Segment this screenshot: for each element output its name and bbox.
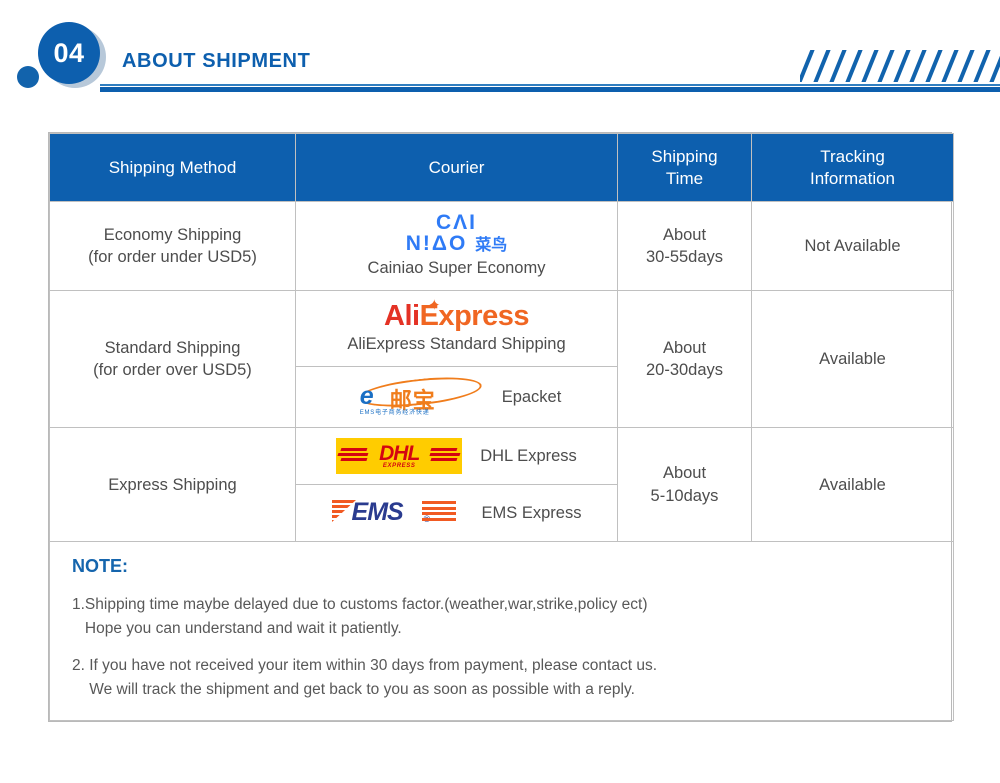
tracking-status: Available <box>819 476 886 494</box>
cainiao-logo-line1: CΛI <box>406 212 507 233</box>
shipping-time-cell-express: About 5-10days <box>618 428 752 542</box>
courier-cell-dhl: DHL EXPRESS DHL Express <box>296 428 618 485</box>
note-row: NOTE: 1.Shipping time maybe delayed due … <box>50 542 954 721</box>
shipping-time-line2: 5-10days <box>618 485 751 507</box>
decorative-dot <box>17 66 39 88</box>
page-title: ABOUT SHIPMENT <box>122 50 310 73</box>
method-cell-economy: Economy Shipping (for order under USD5) <box>50 202 296 291</box>
epacket-logo: e 邮宝 EMS电子商务经济快递 <box>352 377 484 417</box>
tracking-status: Available <box>819 350 886 368</box>
column-header-label: Shipping <box>651 147 717 166</box>
column-header-shipping-method: Shipping Method <box>50 134 296 202</box>
column-header-label-line2: Time <box>618 168 751 189</box>
courier-caption: Cainiao Super Economy <box>368 259 546 278</box>
cainiao-logo-line2: N!ΔO <box>406 232 468 255</box>
column-header-label: Shipping Method <box>109 158 237 177</box>
ems-logo-text: EMS <box>352 498 403 527</box>
note-line-1: 1.Shipping time maybe delayed due to cus… <box>72 593 931 617</box>
shipping-time-line2: 20-30days <box>618 359 751 381</box>
courier-cell-epacket: e 邮宝 EMS电子商务经济快递 Epacket <box>296 367 618 428</box>
column-header-tracking-information: Tracking Information <box>752 134 954 202</box>
method-sublabel: (for order over USD5) <box>50 359 295 381</box>
aliexpress-logo-text-a: Ali <box>384 300 420 332</box>
section-header: 04 ABOUT SHIPMENT <box>0 0 1000 110</box>
tracking-cell-standard: Available <box>752 290 954 427</box>
shipping-time-cell-economy: About 30-55days <box>618 202 752 291</box>
courier-cell-aliexpress: ✦ AliExpress AliExpress Standard Shippin… <box>296 290 618 366</box>
method-cell-standard: Standard Shipping (for order over USD5) <box>50 290 296 427</box>
diagonal-stripes-decoration <box>800 50 1000 82</box>
note-section: NOTE: 1.Shipping time maybe delayed due … <box>50 542 954 721</box>
column-header-label: Courier <box>429 158 485 177</box>
ems-logo: EMS ® <box>332 495 464 531</box>
aliexpress-logo: ✦ AliExpress <box>384 301 529 331</box>
courier-label: EMS Express <box>482 504 582 523</box>
courier-cell-ems: EMS ® EMS Express <box>296 485 618 542</box>
table-header-row: Shipping Method Courier Shipping Time Tr… <box>50 134 954 202</box>
cainiao-logo: CΛI N!ΔO 菜鸟 <box>406 212 507 255</box>
shipping-table-wrapper: Shipping Method Courier Shipping Time Tr… <box>48 132 952 722</box>
method-label: Express Shipping <box>108 476 236 494</box>
method-label: Economy Shipping <box>104 226 242 244</box>
table-row: Express Shipping DHL EXPRESS DHL Express <box>50 428 954 485</box>
shipping-table: Shipping Method Courier Shipping Time Tr… <box>49 133 954 721</box>
shipping-time-cell-standard: About 20-30days <box>618 290 752 427</box>
method-cell-express: Express Shipping <box>50 428 296 542</box>
column-header-courier: Courier <box>296 134 618 202</box>
dhl-logo: DHL EXPRESS <box>336 438 462 474</box>
dhl-logo-subtext: EXPRESS <box>336 463 462 469</box>
courier-label: DHL Express <box>480 447 577 466</box>
method-sublabel: (for order under USD5) <box>50 246 295 268</box>
column-header-shipping-time: Shipping Time <box>618 134 752 202</box>
sparkle-icon: ✦ <box>428 298 440 314</box>
header-rule-thin <box>100 84 1000 86</box>
note-line-2: Hope you can understand and wait it pati… <box>72 617 931 641</box>
courier-cell-cainiao: CΛI N!ΔO 菜鸟 Cainiao Super Economy <box>296 202 618 291</box>
shipment-info-page: 04 ABOUT SHIPMENT <box>0 0 1000 783</box>
note-title: NOTE: <box>72 556 931 577</box>
cainiao-logo-chinese: 菜鸟 <box>475 237 507 254</box>
tracking-status: Not Available <box>804 237 900 255</box>
note-line-3: 2. If you have not received your item wi… <box>72 654 931 678</box>
table-row: Standard Shipping (for order over USD5) … <box>50 290 954 366</box>
epacket-logo-tagline: EMS电子商务经济快递 <box>360 407 430 416</box>
note-spacer <box>72 641 931 654</box>
note-line-4: We will track the shipment and get back … <box>72 678 931 702</box>
tracking-cell-economy: Not Available <box>752 202 954 291</box>
courier-caption: AliExpress Standard Shipping <box>347 335 565 354</box>
shipping-time-line1: About <box>663 226 706 244</box>
method-label: Standard Shipping <box>105 339 241 357</box>
column-header-label: Tracking <box>820 147 885 166</box>
shipping-time-line2: 30-55days <box>618 246 751 268</box>
header-rule-thick <box>100 87 1000 92</box>
ems-bars <box>422 501 456 523</box>
courier-label: Epacket <box>502 388 562 407</box>
column-header-label-line2: Information <box>752 168 953 189</box>
tracking-cell-express: Available <box>752 428 954 542</box>
shipping-time-line1: About <box>663 339 706 357</box>
shipping-time-line1: About <box>663 464 706 482</box>
section-number-badge: 04 <box>38 22 100 84</box>
table-row: Economy Shipping (for order under USD5) … <box>50 202 954 291</box>
